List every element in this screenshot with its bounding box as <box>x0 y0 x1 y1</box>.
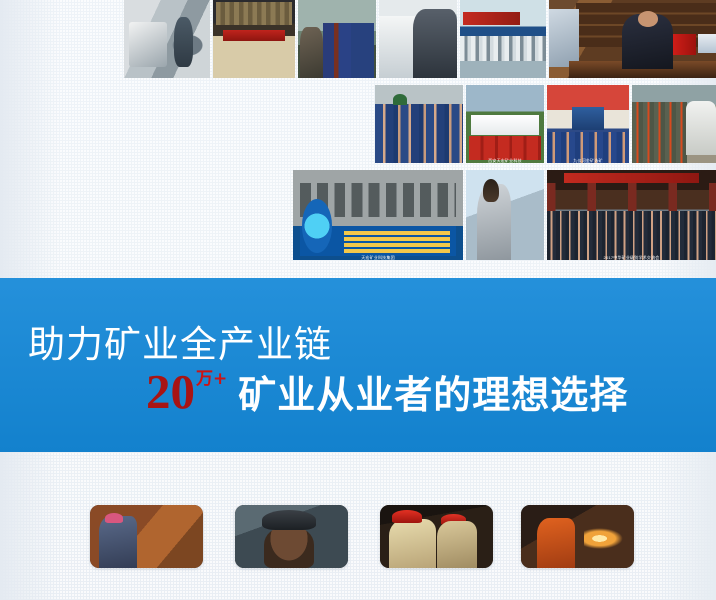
thumb-geologist-survey-art <box>90 505 203 568</box>
conf-pillars <box>547 183 716 214</box>
photo-conference-caption: 2017中华矿业级别学术交流会 <box>547 255 716 260</box>
photo-banner-event-caption: 西安天宏矿业科技 <box>466 158 544 163</box>
thumb-two-workers[interactable] <box>380 505 493 568</box>
thumb-furnace-worker-art <box>521 505 634 568</box>
photo-lab-instrument <box>124 0 210 78</box>
company-photo-mosaic: 西安天宏矿业科技九仪河金矿选矿天宏矿业科技集团2017中华矿业级别学术交流会 <box>0 0 716 263</box>
photo-pipes-testing <box>460 0 546 78</box>
photo-machining-shop-art <box>379 0 457 78</box>
conf-crowd <box>547 211 716 260</box>
photo-chairman-office-art <box>549 0 716 78</box>
thumb-furnace-worker[interactable] <box>521 505 634 568</box>
ceo-screen <box>549 9 579 67</box>
thumb-two-workers-art <box>380 505 493 568</box>
photo-conference-art <box>547 170 716 260</box>
ceo-flag2 <box>698 34 716 53</box>
photo-mine-crew-art <box>547 85 629 163</box>
photo-company-sign-caption: 天宏矿业科技集团 <box>293 255 463 260</box>
sign-globe <box>302 199 333 253</box>
slogan-line-2-text: 矿业从业者的理想选择 <box>238 375 628 415</box>
photo-helmet-crew-art <box>632 85 716 163</box>
photo-helmet-crew <box>632 85 716 163</box>
photo-conference: 2017中华矿业级别学术交流会 <box>547 170 716 260</box>
photo-award-ceremony-art <box>213 0 295 78</box>
photo-mine-crew-caption: 九仪河金矿选矿 <box>547 158 629 163</box>
member-count-number: 20 <box>146 370 195 414</box>
photo-mountain-team-art <box>298 0 376 78</box>
thumb-smiling-miner[interactable] <box>235 505 348 568</box>
photo-mine-crew: 九仪河金矿选矿 <box>547 85 629 163</box>
photo-banner-event: 西安天宏矿业科技 <box>466 85 544 163</box>
photo-lab-technician <box>466 170 544 260</box>
photo-award-ceremony <box>213 0 295 78</box>
ceo-flag <box>673 34 696 54</box>
red-helmet-h2 <box>441 514 466 525</box>
red-helmet-h1 <box>392 510 421 523</box>
slogan-line-2: 20 万+ 矿业从业者的理想选择 <box>146 370 628 414</box>
photo-machining-shop <box>379 0 457 78</box>
photo-worker-group <box>375 85 463 163</box>
thumb-smiling-miner-art <box>235 505 348 568</box>
photo-pipes-testing-art <box>460 0 546 78</box>
photo-chairman-office <box>549 0 716 78</box>
photo-lab-technician-art <box>466 170 544 260</box>
industry-thumbnail-strip <box>0 452 716 600</box>
photo-company-sign: 天宏矿业科技集团 <box>293 170 463 260</box>
photo-lab-instrument-art <box>124 0 210 78</box>
slogan-line-1: 助力矿业全产业链 <box>28 325 332 365</box>
thumb-geologist-survey[interactable] <box>90 505 203 568</box>
ceo-head <box>638 11 658 27</box>
photo-mountain-team <box>298 0 376 78</box>
member-count-unit: 万+ <box>196 371 227 388</box>
photo-company-sign-art <box>293 170 463 260</box>
photo-worker-group-art <box>375 85 463 163</box>
photo-banner-event-art <box>466 85 544 163</box>
